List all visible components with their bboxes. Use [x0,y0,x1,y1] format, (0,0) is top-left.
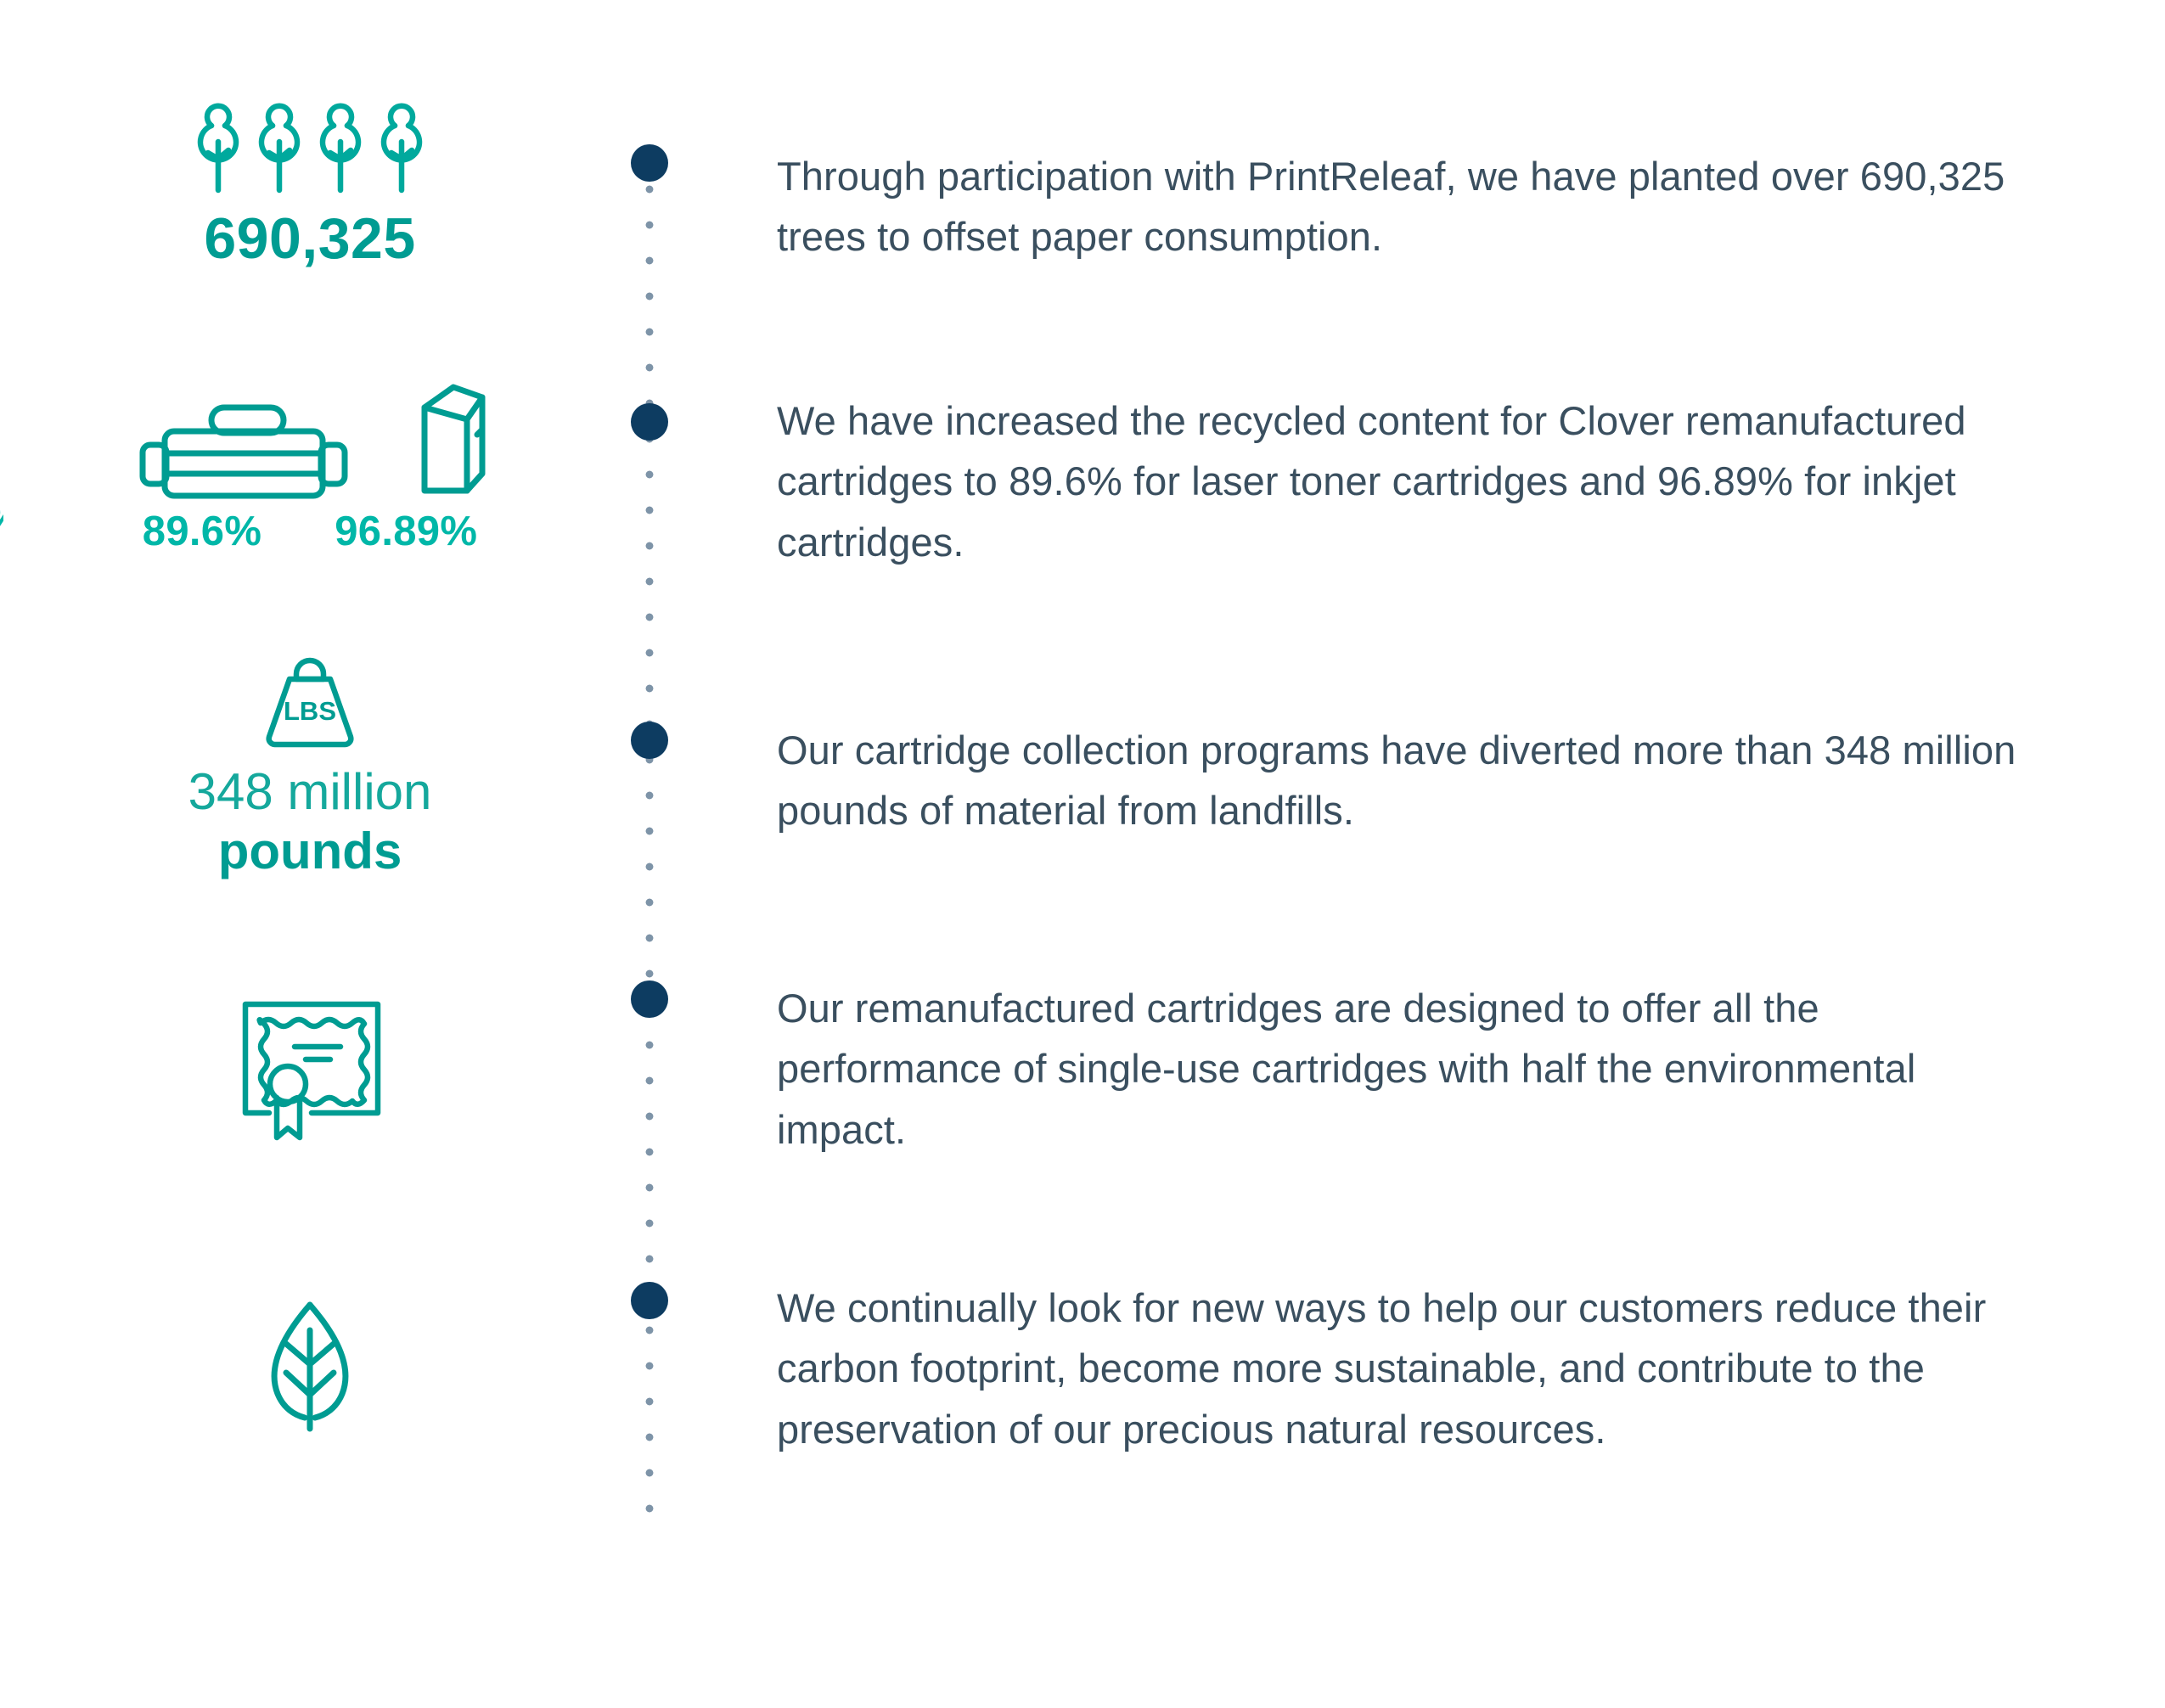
stat-row-leaf: We continually look for new ways to help… [0,1295,2165,1549]
cartridges-icon-column: 89.6% 96.89% [0,382,620,555]
stat-row-certificate: Our remanufactured cartridges are design… [0,989,2165,1210]
stat-value-toner-percent: 89.6% [143,508,261,555]
stat-row-trees: 690,325 Through participation with Print… [0,102,2165,357]
stat-text-certificate: Our remanufactured cartridges are design… [777,978,2033,1160]
weight-icon-label: LBS [284,696,336,726]
toner-cartridge-icon [131,401,353,503]
leaf-icon-column [0,1295,620,1439]
stat-text-cartridges: We have increased the recycled content f… [777,390,2033,572]
certificate-icon [233,989,386,1150]
stat-row-cartridges: 89.6% 96.89% We have increased the recyc… [0,382,2165,603]
timeline-bullet-1 [631,144,668,182]
stat-text-leaf: We continually look for new ways to help… [777,1278,2033,1459]
stat-value-pounds-line2: pounds [0,822,620,881]
leaf-icon [256,1295,364,1439]
stat-value-trees: 690,325 [0,207,620,271]
inkjet-cartridge-icon [414,382,489,503]
stat-row-pounds: LBS 348 million pounds Our cartridge col… [0,645,2165,900]
stat-value-inkjet-percent: 96.89% [335,508,477,555]
pounds-icon-column: LBS 348 million pounds [0,645,620,880]
timeline-bullet-4 [631,980,668,1018]
weight-lbs-icon: LBS [256,645,364,749]
certificate-icon-column [0,989,620,1150]
stat-text-trees: Through participation with PrintReleaf, … [777,146,2033,267]
stat-text-pounds: Our cartridge collection programs have d… [777,720,2033,841]
four-trees-icon [0,102,620,195]
timeline-bullet-2 [631,403,668,441]
infographic-page: % [0,0,2165,1708]
stat-value-pounds-line1: 348 million [0,762,620,822]
trees-icon-column: 690,325 [0,102,620,271]
timeline-bullet-5 [631,1282,668,1319]
timeline-bullet-3 [631,722,668,759]
